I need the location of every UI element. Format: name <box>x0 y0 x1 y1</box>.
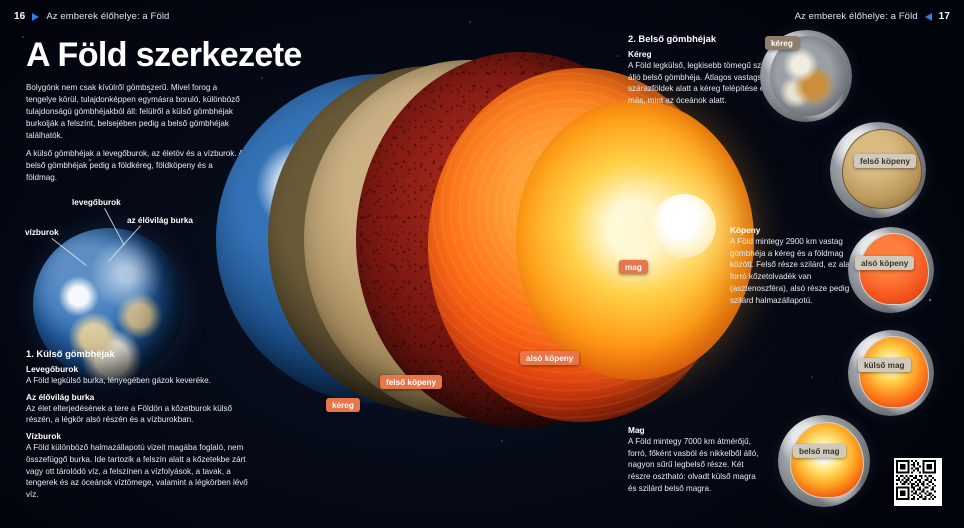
text-levegoburok: A Föld legkülső burka, lényegében gázok … <box>26 375 254 387</box>
section-mantle: Köpeny A Föld mintegy 2900 km vastag göm… <box>730 220 858 306</box>
running-head-right-label: Az emberek élőhelye: a Föld <box>795 11 918 22</box>
label-chip-also-kopeny: alsó köpeny <box>520 351 579 365</box>
thumb-globe-felso-kopeny <box>830 122 926 218</box>
layer-outer-core <box>516 100 754 380</box>
thumb-label-kereg: kéreg <box>765 36 799 50</box>
thumb-label-felso-kopeny: felső köpeny <box>854 154 916 168</box>
term-elovilag: Az élővilág burka <box>26 392 254 402</box>
layer-inner-core <box>652 194 716 258</box>
label-chip-mag: mag <box>619 260 648 274</box>
running-head-right: Az emberek élőhelye: a Föld 17 <box>795 11 950 22</box>
thumb-label-belso-mag: belső mag <box>793 444 846 458</box>
thumb-globe-kulso-mag <box>848 330 934 416</box>
intro-copy: Bolygónk nem csak kívülről gömbszerű. Mi… <box>26 82 244 184</box>
thumb-cap-belso-mag <box>790 422 864 498</box>
thumb-cap-kulso-mag <box>859 336 929 408</box>
intro-paragraph-2: A külső gömbhéjak a levegőburok, az élet… <box>26 148 244 184</box>
running-head-left-label: Az emberek élőhelye: a Föld <box>46 11 169 22</box>
thumb-globe-also-kopeny <box>848 227 934 313</box>
section-core: Mag A Föld mintegy 7000 km átmérőjű, for… <box>628 420 760 495</box>
page-number-left: 16 <box>14 11 25 22</box>
label-chip-felso-kopeny: felső köpeny <box>380 375 442 389</box>
term-kopeny: Köpeny <box>730 225 858 235</box>
qr-code-icon[interactable] <box>894 458 942 506</box>
thumb-label-kulso-mag: külső mag <box>858 358 911 372</box>
triangle-right-icon[interactable] <box>32 13 39 21</box>
term-vizburok: Vízburok <box>26 431 254 441</box>
page-number-right: 17 <box>939 11 950 22</box>
earth-cutaway-diagram: kéreg felső köpeny alsó köpeny mag <box>216 38 686 490</box>
thumb-label-also-kopeny: alsó köpeny <box>855 256 914 270</box>
label-chip-kereg: kéreg <box>326 398 360 412</box>
triangle-left-icon[interactable] <box>925 13 932 21</box>
section-outer-shells: 1. Külső gömbhéjak Levegőburok A Föld le… <box>26 348 254 501</box>
text-mag: A Föld mintegy 7000 km átmérőjű, forró, … <box>628 436 760 495</box>
callout-elovilag: az élővilág burka <box>127 216 193 225</box>
thumb-globe-belso-mag <box>778 415 870 507</box>
text-vizburok: A Föld különböző halmazállapotú vizeit m… <box>26 442 254 501</box>
section-outer-heading: 1. Külső gömbhéjak <box>26 348 254 359</box>
term-levegoburok: Levegőburok <box>26 364 254 374</box>
running-head-left: 16 Az emberek élőhelye: a Föld <box>14 11 169 22</box>
term-mag: Mag <box>628 425 760 435</box>
text-kopeny: A Föld mintegy 2900 km vastag gömbhéja a… <box>730 236 858 306</box>
text-elovilag: Az élet elterjedésének a tere a Földön a… <box>26 403 254 426</box>
thumb-cap-felso-kopeny <box>842 129 922 209</box>
intro-paragraph-1: Bolygónk nem csak kívülről gömbszerű. Mi… <box>26 82 244 141</box>
callout-vizburok: vízburok <box>25 228 59 237</box>
callout-levegoburok: levegőburok <box>72 198 121 207</box>
page-spread: 16 Az emberek élőhelye: a Föld Az embere… <box>0 0 964 528</box>
